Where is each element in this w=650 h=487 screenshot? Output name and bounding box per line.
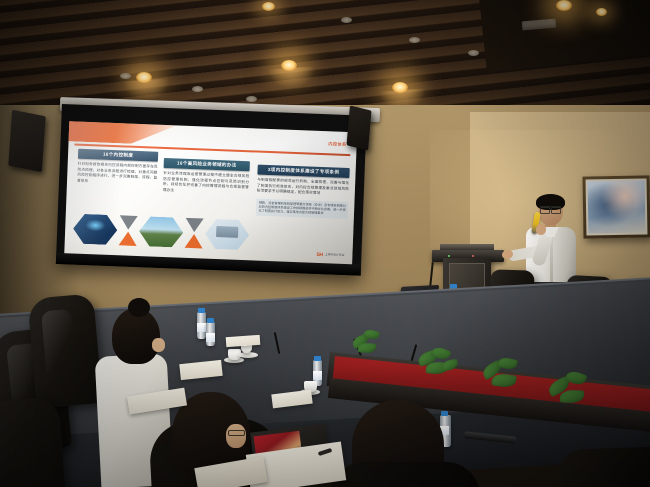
projected-slide-surface: 内控体系 16个内控制度 针对财务报告相关内控流程内部控制方面存在风险点梳理，对… — [64, 121, 357, 265]
slide-column-1-body: 针对财务报告相关内控流程内部控制方面存在风险点梳理，对各业务流程进行梳理，对重点… — [77, 162, 158, 187]
recessed-downlight-icon — [192, 86, 203, 92]
triangle-separator-icon — [119, 231, 138, 246]
wall-speaker-icon — [346, 105, 371, 150]
bottle-cap — [314, 356, 321, 361]
eyeglasses-icon — [228, 430, 245, 436]
water-bottle[interactable] — [206, 322, 215, 346]
bottle-label — [313, 371, 322, 380]
slide-accent-corner — [64, 121, 181, 145]
spotlight-beam — [123, 78, 170, 101]
framed-landscape-painting — [582, 175, 650, 238]
conference-room-photo: 内控体系 16个内控制度 针对财务报告相关内控流程内部控制方面存在风险点梳理，对… — [0, 0, 650, 487]
painting-artwork — [588, 181, 646, 234]
triangle-separator-icon — [185, 218, 204, 233]
projection-screen[interactable]: 内控体系 16个内控制度 针对财务报告相关内控流程内部控制方面存在风险点梳理，对… — [56, 104, 367, 276]
status-led-icon — [448, 255, 450, 257]
ceiling-spotlight-icon — [596, 8, 607, 16]
hex-tile-device-icon — [205, 219, 250, 251]
recessed-downlight-icon — [409, 37, 420, 43]
bottle-label — [197, 323, 206, 332]
attendee-body — [330, 462, 480, 487]
ceiling-spotlight-icon — [556, 0, 572, 11]
slide-column-3-note: 预算、资金管理和采购管理等重点领域（办法）及专项条例等对应的内控制度体系建设工作… — [256, 198, 349, 219]
slide-brand-tag: 内控体系 — [328, 141, 347, 148]
bottle-cap — [441, 411, 448, 416]
triangle-separator-icon — [185, 234, 204, 249]
slide-column-3: 3项内控制度体系建设了专项条例 与制度相配套的规范运行机制，全面梳理、完善与强化… — [256, 165, 350, 219]
recessed-downlight-icon — [120, 73, 131, 79]
triangle-separator-icon — [119, 215, 138, 230]
slide-footer-logo: SH 上海市会计学会 — [316, 252, 344, 259]
water-bottle[interactable] — [197, 312, 206, 339]
office-chair[interactable] — [0, 397, 65, 487]
bottle-cap — [198, 308, 205, 313]
chair-highlight — [41, 309, 77, 379]
recessed-downlight-icon — [341, 17, 352, 23]
slide-column-2-body: 针对业务流程及运营管理过程中建立健全合规风险防控管理机制，强化流程节点控制与风险… — [163, 171, 250, 196]
bottle-cap — [207, 318, 214, 323]
attendee-hair-bun — [128, 298, 150, 317]
painting-mat — [586, 178, 648, 235]
wall-speaker-icon — [8, 110, 46, 172]
logo-mark: SH — [316, 252, 323, 258]
slide-column-1: 16个内控制度 针对财务报告相关内控流程内部控制方面存在风险点梳理，对各业务流程… — [77, 149, 158, 187]
slide-column-1-header: 16个内控制度 — [78, 149, 158, 162]
attendee-face — [226, 424, 246, 448]
hex-tile-landscape-icon — [139, 216, 184, 248]
slide-column-3-header: 3项内控制度体系建设了专项条例 — [257, 165, 349, 179]
recessed-downlight-icon — [246, 96, 257, 102]
attendee-face — [152, 338, 165, 352]
status-led-icon — [472, 255, 474, 257]
hex-tile-network-icon — [73, 214, 118, 246]
slide-column-2-header: 16个高风险业务领域的办法 — [164, 158, 250, 172]
slide-image-row — [72, 214, 263, 255]
logo-text: 上海市会计学会 — [325, 254, 345, 258]
eyeglasses-icon — [540, 206, 561, 211]
slide-column-2: 16个高风险业务领域的办法 针对业务流程及运营管理过程中建立健全合规风险防控管理… — [163, 158, 250, 196]
recessed-downlight-icon — [468, 50, 479, 56]
ceiling-spotlight-icon — [262, 2, 275, 11]
bottle-label — [206, 333, 215, 342]
presentation-slide: 内控体系 16个内控制度 针对财务报告相关内控流程内部控制方面存在风险点梳理，对… — [64, 121, 357, 265]
spotlight-beam — [268, 66, 315, 89]
slide-column-3-body: 与制度相配套的规范运行机制，全面梳理、完善与强化了制度执行标准体系，对内控合规管… — [257, 178, 350, 198]
